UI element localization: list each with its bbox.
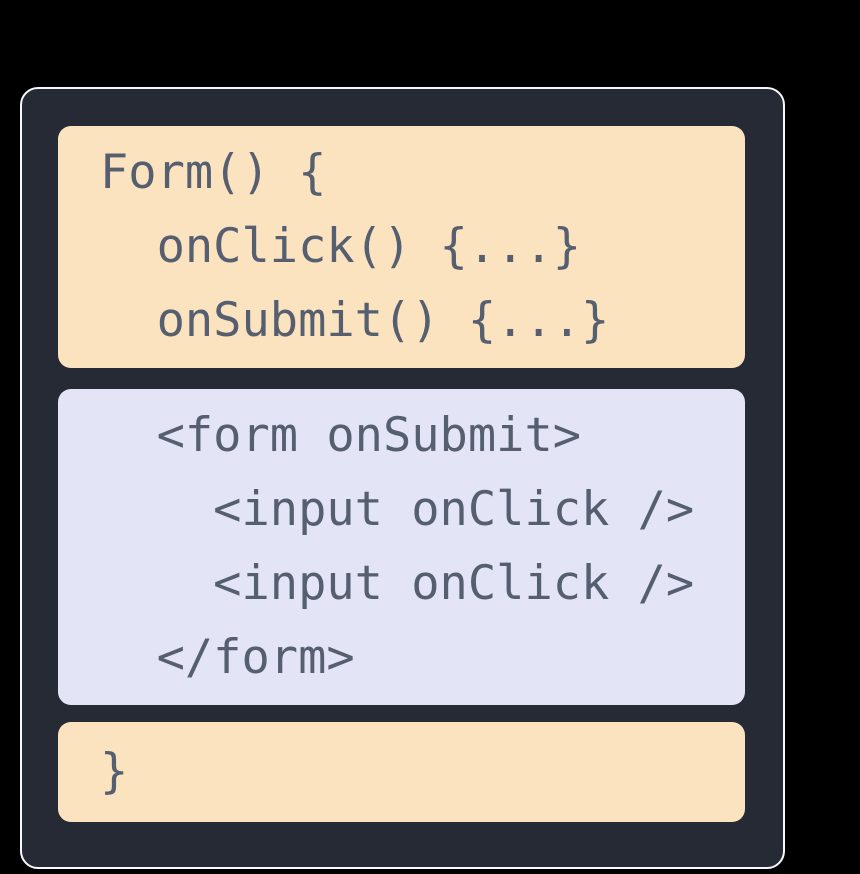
code-line-onsubmit-handler: onSubmit() {...} xyxy=(58,284,745,358)
code-line-input-onclick-second: <input onClick /> xyxy=(58,547,745,621)
code-panel: Form() { onClick() {...} onSubmit() {...… xyxy=(20,87,785,869)
code-line-onclick-handler: onClick() {...} xyxy=(58,210,745,284)
code-block-closing-brace: } xyxy=(58,722,745,822)
code-line-form-tag-open: <form onSubmit> xyxy=(58,399,745,473)
code-line-form-tag-close: </form> xyxy=(58,621,745,695)
code-lines-component-shell: Form() { onClick() {...} onSubmit() {...… xyxy=(58,126,745,368)
code-block-component-shell: Form() { onClick() {...} onSubmit() {...… xyxy=(58,126,745,368)
code-lines-closing-brace: } xyxy=(58,722,745,822)
code-line-input-onclick-first: <input onClick /> xyxy=(58,473,745,547)
code-line-form-open: Form() { xyxy=(58,136,745,210)
diagram-canvas: Form() { onClick() {...} onSubmit() {...… xyxy=(0,0,860,874)
code-line-closing-brace: } xyxy=(58,735,745,809)
code-lines-markup: <form onSubmit> <input onClick /> <input… xyxy=(58,389,745,705)
code-block-markup: <form onSubmit> <input onClick /> <input… xyxy=(58,389,745,705)
